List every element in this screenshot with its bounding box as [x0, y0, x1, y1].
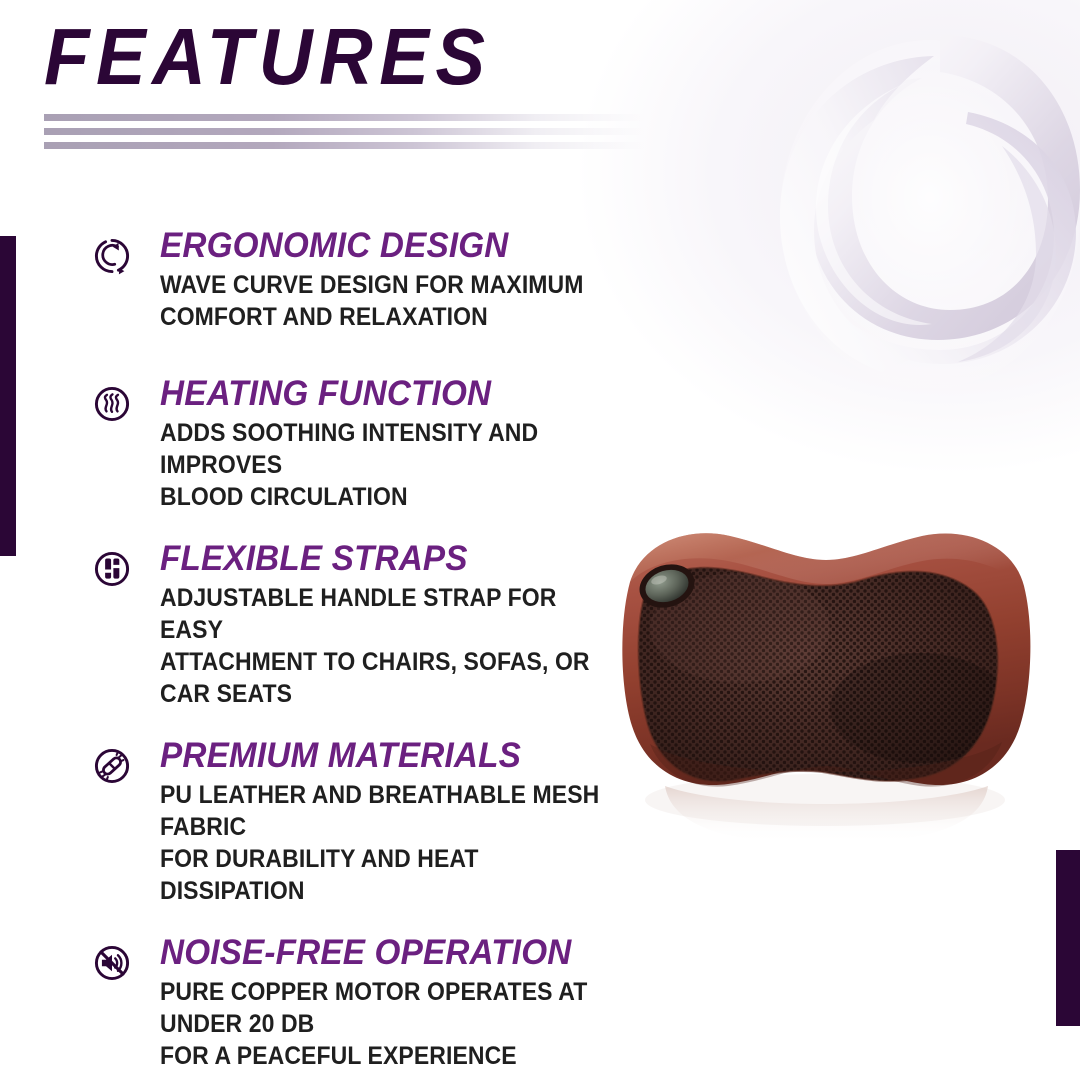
feature-description: WAVE CURVE DESIGN FOR MAXIMUM COMFORT AN…	[160, 269, 609, 333]
feature-description: PURE COPPER MOTOR OPERATES AT UNDER 20 D…	[160, 976, 609, 1072]
feature-description: ADJUSTABLE HANDLE STRAP FOR EASY ATTACHM…	[160, 582, 609, 710]
feature-text-block: ERGONOMIC DESIGN WAVE CURVE DESIGN FOR M…	[160, 228, 648, 333]
spiral-ribbon-decoration	[760, 10, 1080, 440]
feature-item-noise-free-operation: NOISE-FREE OPERATION PURE COPPER MOTOR O…	[88, 935, 648, 1072]
feature-item-premium-materials: PREMIUM MATERIALS PU LEATHER AND BREATHA…	[88, 738, 648, 907]
product-image-massage-pillow	[590, 498, 1060, 858]
title-block: FEATURES	[44, 18, 664, 96]
title-underline-rules	[44, 114, 644, 149]
title-rule-3	[44, 142, 644, 149]
feature-description: ADDS SOOTHING INTENSITY AND IMPROVES BLO…	[160, 417, 609, 513]
feature-text-block: FLEXIBLE STRAPS ADJUSTABLE HANDLE STRAP …	[160, 541, 648, 710]
feature-title: FLEXIBLE STRAPS	[160, 541, 624, 576]
feature-text-block: NOISE-FREE OPERATION PURE COPPER MOTOR O…	[160, 935, 648, 1072]
feature-list: ERGONOMIC DESIGN WAVE CURVE DESIGN FOR M…	[88, 228, 648, 1072]
feature-item-heating-function: HEATING FUNCTION ADDS SOOTHING INTENSITY…	[88, 376, 648, 513]
heat-waves-icon	[88, 380, 136, 428]
left-accent-bar	[0, 236, 16, 556]
feature-title: PREMIUM MATERIALS	[160, 738, 624, 773]
breathable-capsule-icon	[88, 742, 136, 790]
feature-title: NOISE-FREE OPERATION	[160, 935, 624, 970]
feature-text-block: PREMIUM MATERIALS PU LEATHER AND BREATHA…	[160, 738, 648, 907]
feature-item-ergonomic-design: ERGONOMIC DESIGN WAVE CURVE DESIGN FOR M…	[88, 228, 648, 348]
page-title: FEATURES	[44, 18, 621, 96]
feature-description: PU LEATHER AND BREATHABLE MESH FABRIC FO…	[160, 779, 609, 907]
feature-title: HEATING FUNCTION	[160, 376, 624, 411]
feature-title: ERGONOMIC DESIGN	[160, 228, 624, 263]
title-rule-1	[44, 114, 644, 121]
feature-text-block: HEATING FUNCTION ADDS SOOTHING INTENSITY…	[160, 376, 648, 513]
title-rule-2	[44, 128, 644, 135]
rotation-arrows-icon	[88, 232, 136, 280]
right-accent-bar	[1056, 850, 1080, 1026]
muted-speaker-icon	[88, 939, 136, 987]
feature-item-flexible-straps: FLEXIBLE STRAPS ADJUSTABLE HANDLE STRAP …	[88, 541, 648, 710]
feature-poster: FEATURES ERGONOMIC DESIGN WAVE CURVE DES…	[0, 0, 1080, 1080]
straps-buckle-icon	[88, 545, 136, 593]
